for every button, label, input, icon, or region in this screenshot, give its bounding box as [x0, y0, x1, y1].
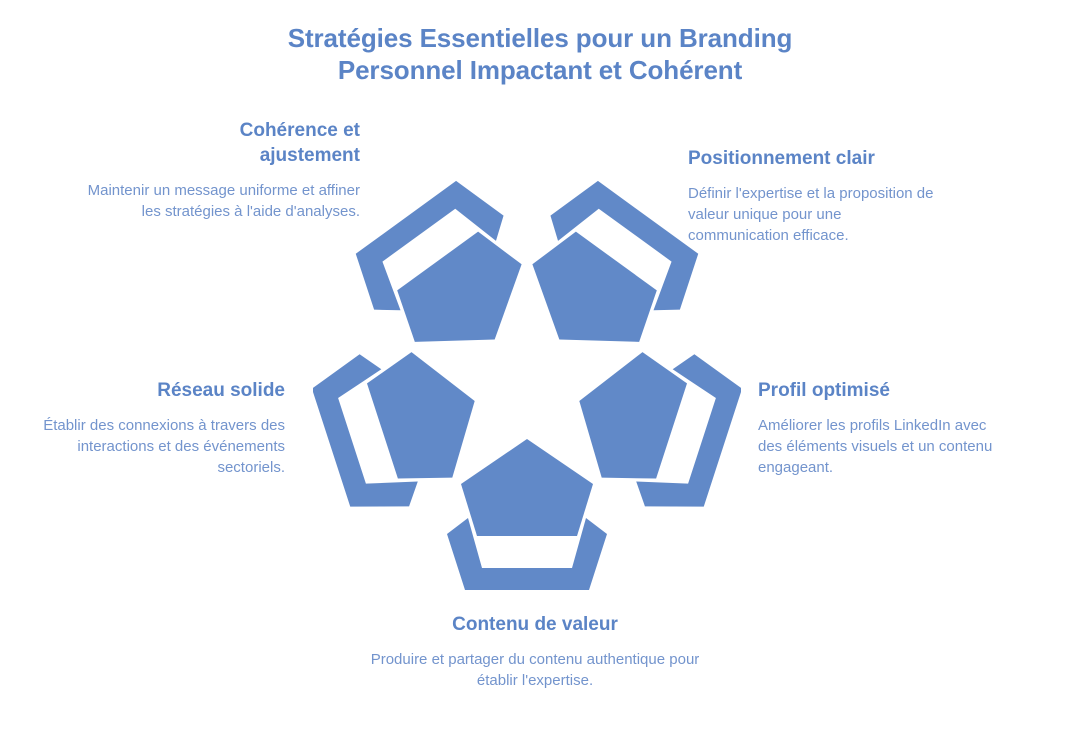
callout-positioning-body: Définir l'expertise et la proposition de…	[688, 183, 938, 246]
page-title: Stratégies Essentielles pour un Branding…	[0, 22, 1080, 86]
callout-coherence-title-line-2: ajustement	[260, 145, 360, 166]
wheel-segment-coherence	[341, 172, 559, 387]
callout-content-body: Produire et partager du contenu authenti…	[370, 649, 700, 691]
callout-coherence-title-line-1: Cohérence et	[240, 120, 360, 141]
callout-reseau-solide: Réseau solide Établir des connexions à t…	[40, 378, 285, 478]
callout-profile-title: Profil optimisé	[758, 378, 1008, 403]
wheel-segment-positioning	[495, 172, 713, 387]
callout-positionnement-clair: Positionnement clair Définir l'expertise…	[688, 146, 938, 246]
pentagon-wheel-diagram	[313, 172, 741, 592]
wheel-segment-content	[447, 439, 607, 590]
callout-contenu-de-valeur: Contenu de valeur Produire et partager d…	[370, 612, 700, 691]
callout-network-body: Établir des connexions à travers des int…	[40, 415, 285, 478]
callout-coherence-et-ajustement: Cohérence et ajustement Maintenir un mes…	[85, 118, 360, 222]
callout-positioning-title: Positionnement clair	[688, 146, 938, 171]
callout-profile-body: Améliorer les profils LinkedIn avec des …	[758, 415, 1008, 478]
callout-content-title: Contenu de valeur	[370, 612, 700, 637]
callout-profil-optimise: Profil optimisé Améliorer les profils Li…	[758, 378, 1008, 478]
pentagon-wheel-shapes	[313, 172, 741, 590]
callout-coherence-body: Maintenir un message uniforme et affiner…	[85, 180, 360, 222]
callout-coherence-title: Cohérence et ajustement	[85, 118, 360, 168]
callout-network-title: Réseau solide	[40, 378, 285, 403]
page-title-line-2: Personnel Impactant et Cohérent	[0, 54, 1080, 86]
page-title-line-1: Stratégies Essentielles pour un Branding	[0, 22, 1080, 54]
